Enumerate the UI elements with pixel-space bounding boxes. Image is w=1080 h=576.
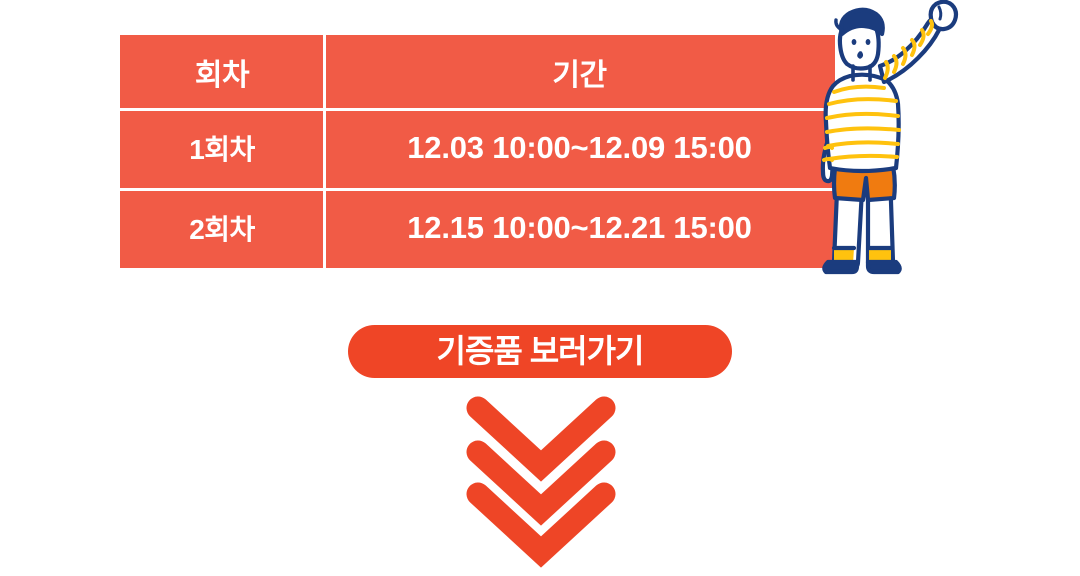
- cell-period: 12.15 10:00~12.21 15:00: [324, 188, 835, 268]
- cell-period: 12.03 10:00~12.09 15:00: [324, 108, 835, 188]
- table-row: 2회차 12.15 10:00~12.21 15:00: [120, 188, 835, 268]
- double-chevron-down-icon: [462, 392, 620, 568]
- table-row-divider: [120, 188, 835, 191]
- view-donations-button[interactable]: 기증품 보러가기: [348, 325, 732, 378]
- table-row: 1회차 12.03 10:00~12.09 15:00: [120, 108, 835, 188]
- cell-round: 2회차: [120, 188, 324, 268]
- column-header-round: 회차: [120, 35, 324, 108]
- poster-canvas: 회차 기간 1회차 12.03 10:00~12.09 15:00 2회차 12…: [0, 0, 1080, 576]
- person-waving-icon: [806, 0, 986, 290]
- column-header-period: 기간: [324, 35, 835, 108]
- table-row-divider: [120, 108, 835, 111]
- table-column-divider: [323, 35, 326, 268]
- table-header-row: 회차 기간: [120, 35, 835, 108]
- schedule-table: 회차 기간 1회차 12.03 10:00~12.09 15:00 2회차 12…: [120, 35, 835, 268]
- cell-round: 1회차: [120, 108, 324, 188]
